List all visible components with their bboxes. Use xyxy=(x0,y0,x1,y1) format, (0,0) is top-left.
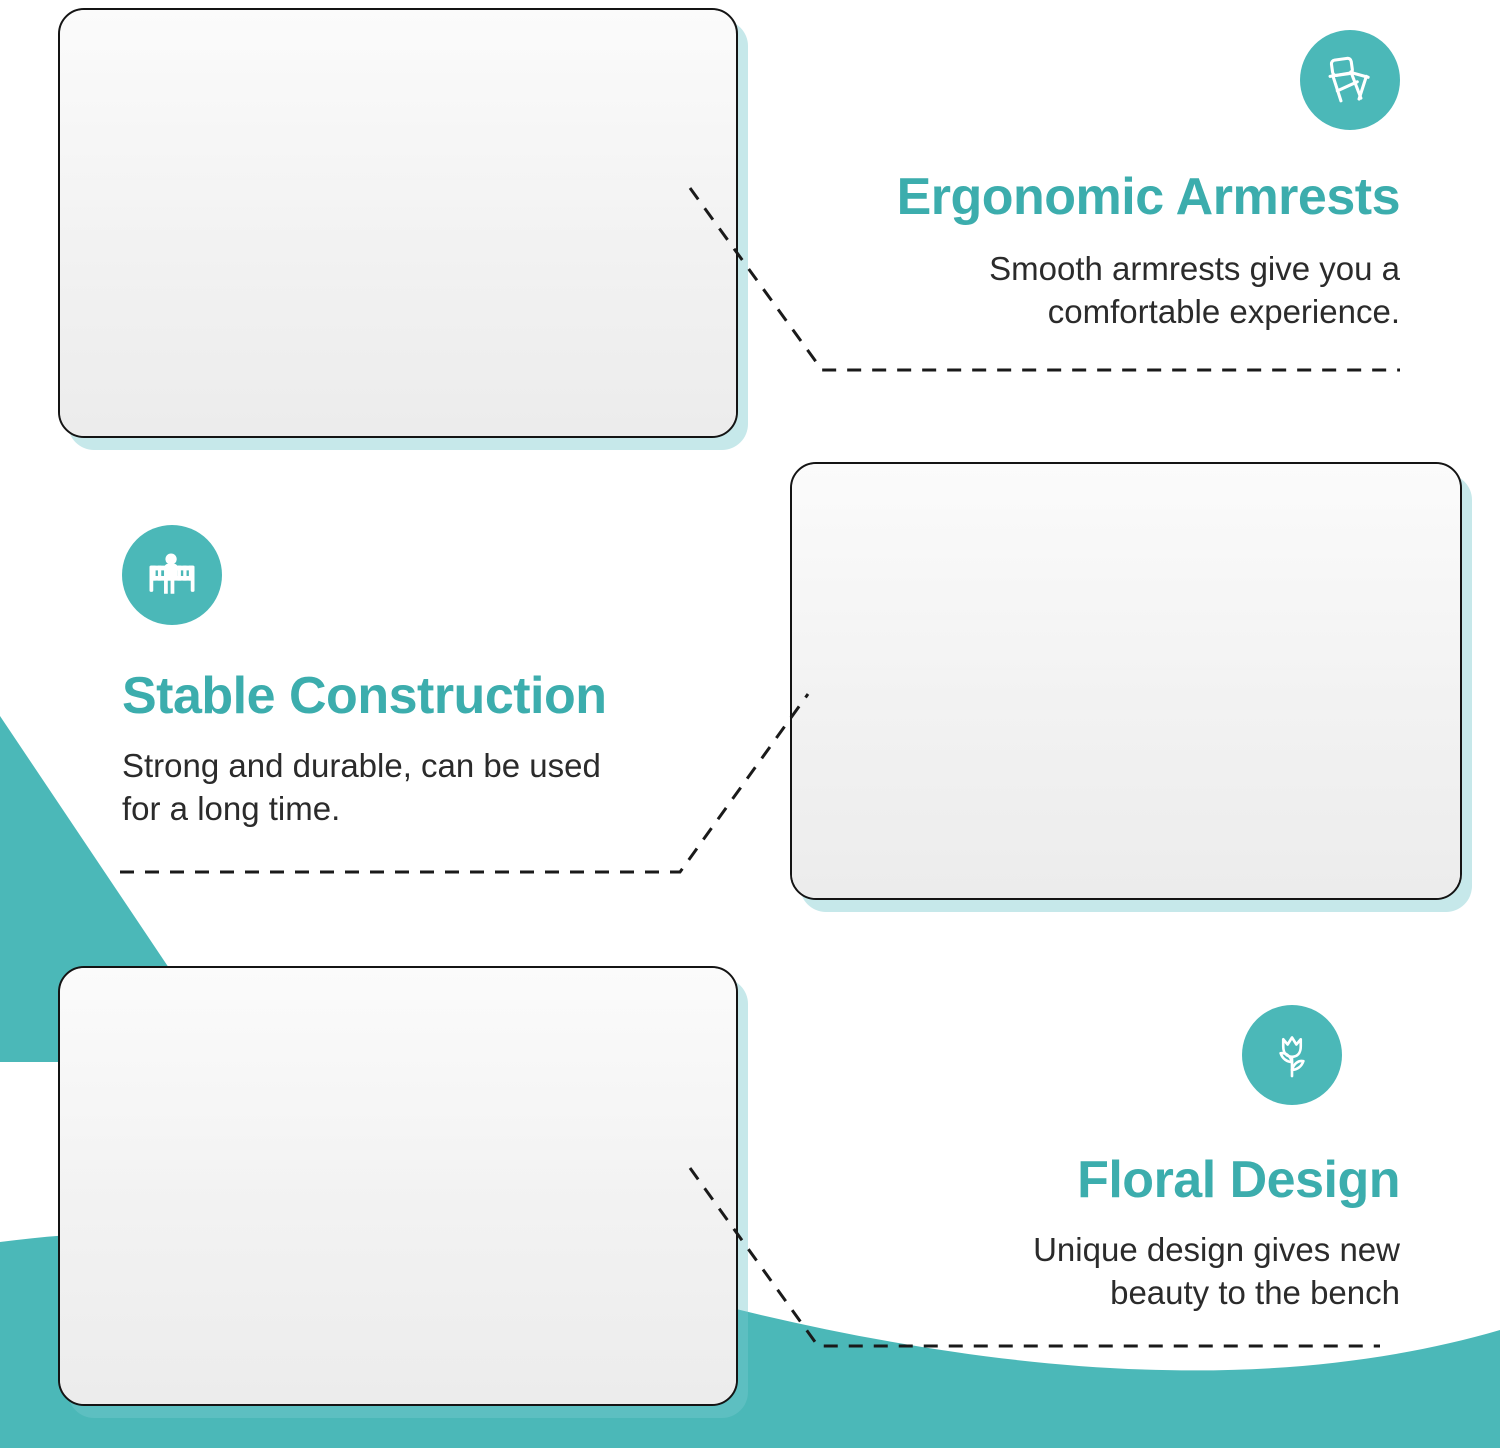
photo-background xyxy=(60,10,736,436)
folding-chair-icon xyxy=(1300,30,1400,130)
feature-description: Unique design gives new beauty to the be… xyxy=(905,1228,1400,1315)
photo-armrest-card xyxy=(58,8,738,438)
photo-legs-image xyxy=(792,464,1460,898)
person-on-bench-icon xyxy=(122,525,222,625)
photo-legs-card xyxy=(790,462,1462,900)
photo-floral-card xyxy=(58,966,738,1406)
feature-description-line-2: comfortable experience. xyxy=(800,290,1400,334)
feature-description-line-2: beauty to the bench xyxy=(905,1271,1400,1315)
feature-ergonomic-armrests: Ergonomic Armrests Smooth armrests give … xyxy=(800,30,1400,334)
feature-description: Strong and durable, can be used for a lo… xyxy=(122,744,722,831)
feature-title: Ergonomic Armrests xyxy=(800,170,1400,225)
photo-armrest-image xyxy=(60,10,736,436)
feature-title: Floral Design xyxy=(905,1153,1400,1208)
photo-floral-image xyxy=(60,968,736,1404)
feature-stable-construction: Stable Construction Strong and durable, … xyxy=(122,525,722,831)
feature-floral-design: Floral Design Unique design gives new be… xyxy=(905,1005,1400,1315)
photo-background xyxy=(60,968,736,1404)
photo-background xyxy=(792,464,1460,898)
feature-description: Smooth armrests give you a comfortable e… xyxy=(800,247,1400,334)
feature-description-line-1: Strong and durable, can be used xyxy=(122,744,722,788)
tulip-flower-icon xyxy=(1242,1005,1342,1105)
feature-description-line-1: Smooth armrests give you a xyxy=(800,247,1400,291)
feature-description-line-1: Unique design gives new xyxy=(905,1228,1400,1272)
feature-title: Stable Construction xyxy=(122,669,722,724)
feature-description-line-2: for a long time. xyxy=(122,787,722,831)
